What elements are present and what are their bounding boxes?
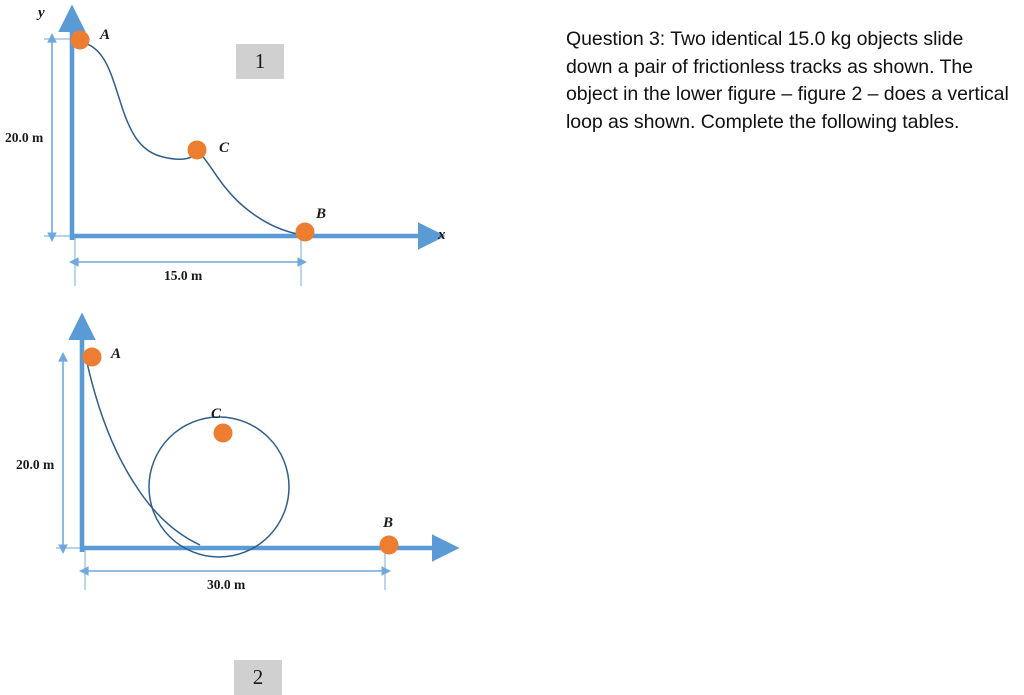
figure-2-label-b: B bbox=[383, 515, 393, 532]
figure-2-run-dimension-label: 30.0 m bbox=[207, 577, 245, 593]
question-panel: Question 3: Two identical 15.0 kg object… bbox=[566, 26, 1014, 137]
figure-1-label-a: A bbox=[100, 27, 110, 44]
object-point-c bbox=[214, 424, 233, 443]
figure-1-x-axis-label: x bbox=[438, 227, 446, 244]
figure-1-y-axis-label: y bbox=[38, 5, 45, 22]
figure-1: 1 A C B y x 20.0 m 15.0 m bbox=[0, 0, 520, 300]
figure-2-height-dimension-label: 20.0 m bbox=[16, 457, 54, 473]
question-text: Question 3: Two identical 15.0 kg object… bbox=[566, 26, 1014, 137]
figure-2-label-a: A bbox=[111, 346, 121, 363]
object-point-b bbox=[296, 223, 315, 242]
object-point-c bbox=[188, 141, 207, 160]
figures-panel: 1 A C B y x 20.0 m 15.0 m bbox=[0, 0, 520, 598]
figure-1-badge: 1 bbox=[236, 44, 284, 79]
figure-1-height-dimension-label: 20.0 m bbox=[5, 130, 43, 146]
track-curve bbox=[86, 358, 200, 545]
figure-2: 2 A C B 20.0 m 30.0 m bbox=[0, 300, 520, 598]
object-point-a bbox=[83, 348, 102, 367]
object-point-a bbox=[71, 31, 90, 50]
figure-1-run-dimension-label: 15.0 m bbox=[164, 268, 202, 284]
figure-1-label-c: C bbox=[219, 140, 229, 157]
object-point-b bbox=[380, 536, 399, 555]
figure-2-badge: 2 bbox=[234, 660, 282, 695]
figure-1-label-b: B bbox=[316, 206, 326, 223]
figure-2-drawing bbox=[0, 300, 520, 598]
figure-2-label-c: C bbox=[211, 406, 221, 423]
